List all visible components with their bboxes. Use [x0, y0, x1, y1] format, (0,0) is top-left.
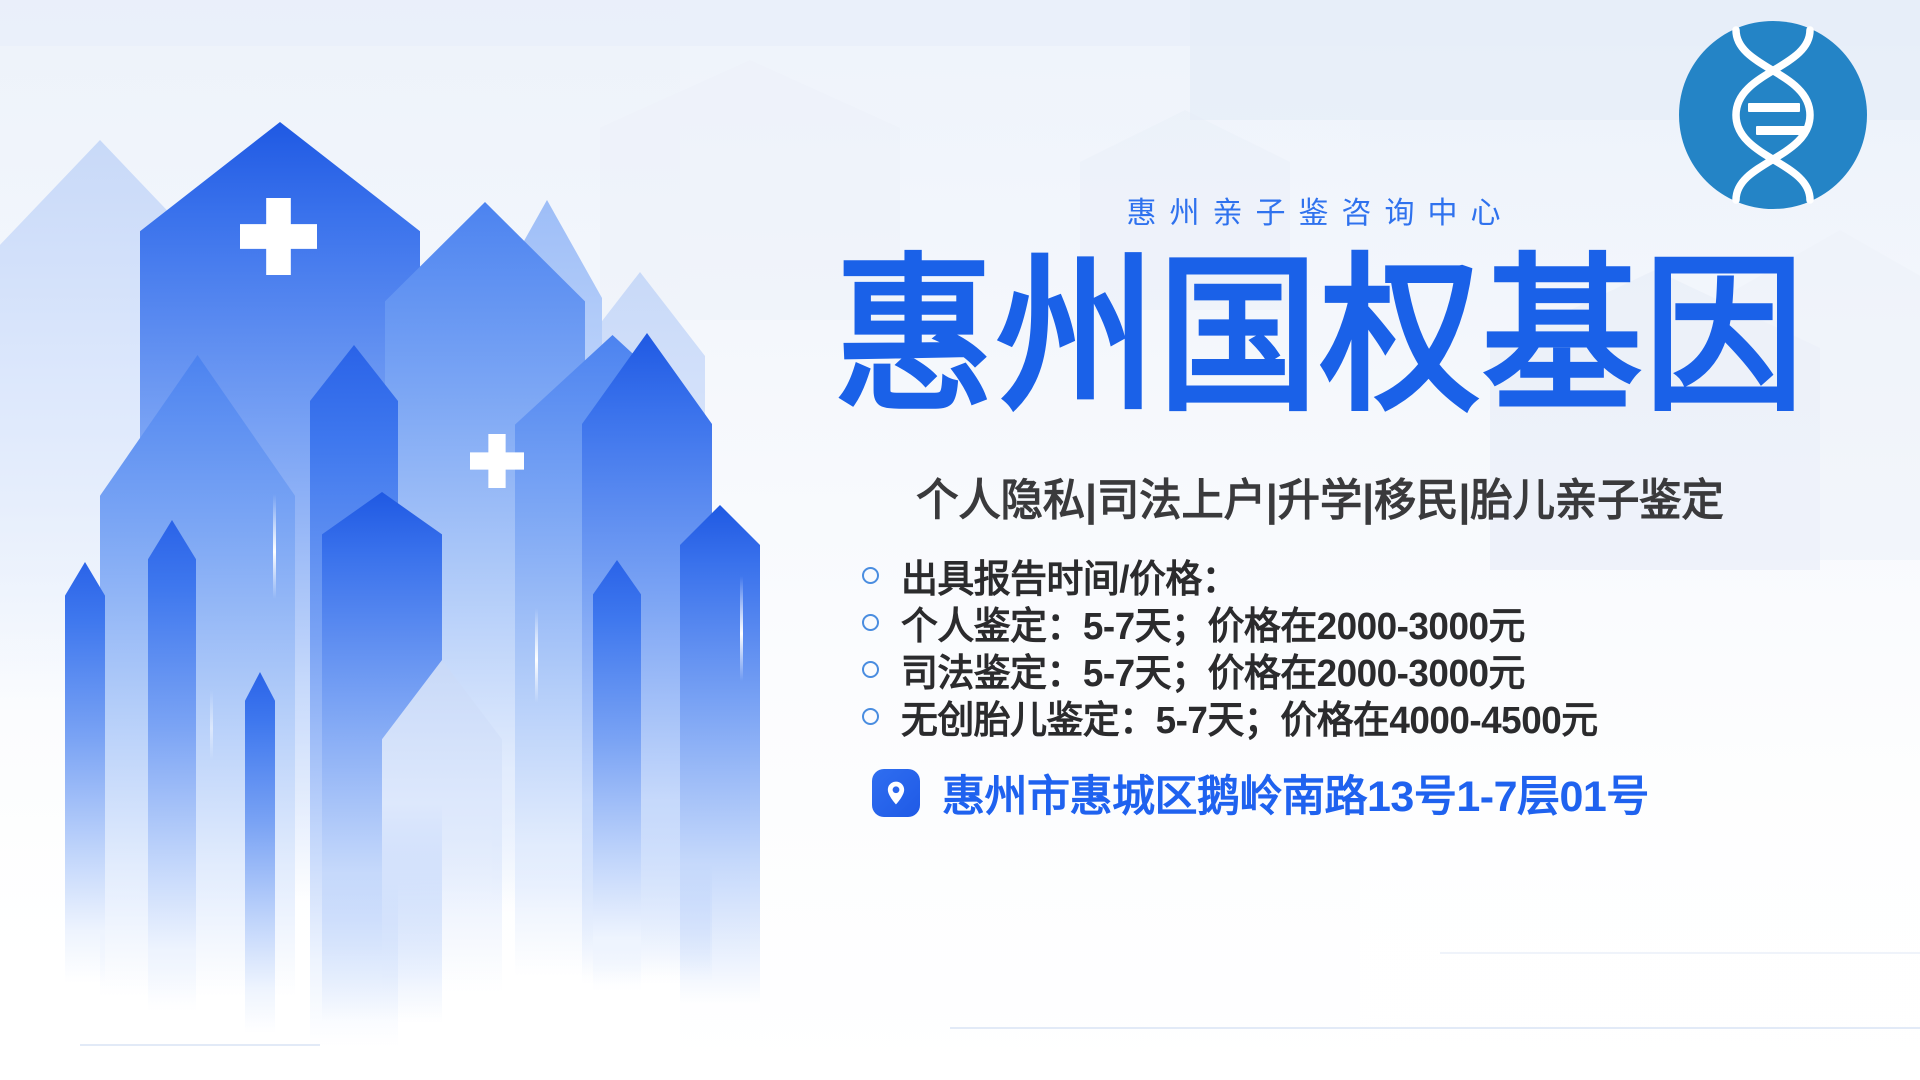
- address-text: 惠州市惠城区鹅岭南路13号1-7层01号: [942, 762, 1649, 824]
- circle-outline-bullet-icon: [862, 614, 879, 631]
- list-item: 无创胎儿鉴定：5-7天；价格在4000-4500元: [862, 693, 1842, 740]
- list-item: 个人鉴定：5-7天；价格在2000-3000元: [862, 599, 1842, 646]
- circle-outline-bullet-icon: [862, 661, 879, 678]
- services-line: 个人隐私|司法上户|升学|移民|胎儿亲子鉴定: [792, 464, 1848, 528]
- page-title: 惠州国权基因: [770, 238, 1870, 434]
- promo-banner: 惠州亲子鉴咨询中心 惠州国权基因 个人隐私|司法上户|升学|移民|胎儿亲子鉴定 …: [0, 0, 1920, 1080]
- address-row: 惠州市惠城区鹅岭南路13号1-7层01号: [872, 762, 1649, 824]
- circle-outline-bullet-icon: [862, 567, 879, 584]
- list-item-label: 无创胎儿鉴定：5-7天；价格在4000-4500元: [901, 689, 1598, 744]
- info-list: 出具报告时间/价格： 个人鉴定：5-7天；价格在2000-3000元 司法鉴定：…: [862, 552, 1842, 740]
- map-pin-icon: [872, 769, 920, 817]
- list-item: 出具报告时间/价格：: [862, 552, 1842, 599]
- list-item: 司法鉴定：5-7天；价格在2000-3000元: [862, 646, 1842, 693]
- sub-title: 惠州亲子鉴咨询中心: [780, 188, 1860, 232]
- circle-outline-bullet-icon: [862, 708, 879, 725]
